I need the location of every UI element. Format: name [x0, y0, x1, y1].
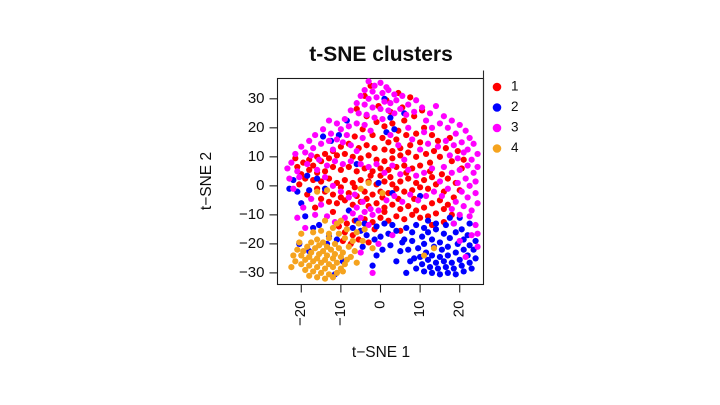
scatter-point [421, 252, 427, 258]
scatter-point [433, 226, 439, 232]
scatter-point [360, 135, 366, 141]
scatter-point [439, 247, 445, 253]
scatter-point [330, 164, 336, 170]
scatter-point [457, 238, 463, 244]
scatter-point [389, 120, 395, 126]
scatter-point [334, 200, 340, 206]
scatter-point [407, 191, 413, 197]
scatter-point [461, 157, 467, 163]
scatter-point [443, 222, 449, 228]
scatter-point [413, 222, 419, 228]
scatter-point [366, 180, 372, 186]
scatter-point [373, 94, 379, 100]
scatter-point [312, 212, 318, 218]
scatter-point [437, 178, 443, 184]
scatter-point [421, 241, 427, 247]
scatter-point [405, 167, 411, 173]
scatter-point [425, 141, 431, 147]
scatter-point [451, 265, 457, 271]
scatter-point [419, 234, 425, 240]
scatter-point [362, 102, 368, 108]
legend-label-2: 2 [511, 99, 519, 114]
y-tick-label: 30 [248, 90, 265, 107]
scatter-point [346, 194, 352, 200]
scatter-point [354, 205, 360, 211]
scatter-point [330, 146, 336, 152]
scatter-point [472, 222, 478, 228]
scatter-point [397, 178, 403, 184]
scatter-point [457, 257, 463, 263]
scatter-point [431, 189, 437, 195]
scatter-point [312, 205, 318, 211]
scatter-point [358, 215, 364, 221]
scatter-point [362, 209, 368, 215]
scatter-point [318, 196, 324, 202]
scatter-point [435, 144, 441, 150]
scatter-point [366, 164, 372, 170]
scatter-point [433, 103, 439, 109]
scatter-point [306, 167, 312, 173]
scatter-point [403, 112, 409, 118]
scatter-point [425, 186, 431, 192]
scatter-point [413, 97, 419, 103]
y-tick-label: −20 [239, 235, 264, 252]
scatter-point [441, 258, 447, 264]
scatter-point [358, 249, 364, 255]
scatter-point [302, 149, 308, 155]
scatter-point [467, 135, 473, 141]
scatter-point [453, 199, 459, 205]
scatter-point [346, 244, 352, 250]
scatter-point [352, 133, 358, 139]
scatter-point [373, 161, 379, 167]
scatter-point [397, 106, 403, 112]
scatter-point [377, 80, 383, 86]
x-axis-label: t−SNE 1 [352, 344, 410, 361]
legend-swatch-1 [493, 83, 502, 92]
scatter-point [330, 209, 336, 215]
scatter-point [429, 165, 435, 171]
scatter-point [389, 155, 395, 161]
scatter-point [417, 139, 423, 145]
scatter-point [469, 157, 475, 163]
scatter-point [344, 220, 350, 226]
scatter-point [358, 93, 364, 99]
scatter-point [429, 125, 435, 131]
scatter-point [360, 238, 366, 244]
legend-swatch-4 [493, 144, 502, 153]
scatter-point [326, 117, 332, 123]
scatter-point [431, 245, 437, 251]
scatter-point [455, 155, 461, 161]
scatter-point [360, 244, 366, 250]
scatter-point [437, 154, 443, 160]
scatter-point [330, 191, 336, 197]
scatter-point [312, 132, 318, 138]
scatter-point [433, 260, 439, 266]
scatter-point [469, 207, 475, 213]
scatter-point [419, 104, 425, 110]
scatter-point [322, 276, 328, 282]
scatter-point [421, 205, 427, 211]
scatter-point [381, 123, 387, 129]
scatter-point [322, 218, 328, 224]
scatter-point [377, 106, 383, 112]
scatter-point [417, 162, 423, 168]
scatter-point [385, 87, 391, 93]
scatter-point [366, 152, 372, 158]
scatter-point [457, 167, 463, 173]
scatter-point [385, 107, 391, 113]
scatter-point [294, 168, 300, 174]
scatter-point [409, 238, 415, 244]
scatter-point [381, 99, 387, 105]
scatter-point [441, 113, 447, 119]
scatter-point [457, 212, 463, 218]
scatter-point [300, 205, 306, 211]
scatter-point [366, 96, 372, 102]
scatter-point [318, 202, 324, 208]
scatter-point [391, 110, 397, 116]
scatter-point [330, 264, 336, 270]
scatter-point [463, 176, 469, 182]
scatter-point [409, 229, 415, 235]
scatter-point [449, 206, 455, 212]
scatter-point [415, 197, 421, 203]
scatter-point [441, 164, 447, 170]
scatter-point [338, 126, 344, 132]
x-tick-label: −10 [332, 301, 349, 326]
scatter-point [369, 212, 375, 218]
scatter-point [318, 141, 324, 147]
scatter-point [391, 91, 397, 97]
scatter-point [427, 264, 433, 270]
plot-canvas: t-SNE clusters −20−1001020 −30−20−100102… [0, 0, 720, 405]
scatter-point [451, 142, 457, 148]
scatter-point [368, 173, 374, 179]
scatter-point [302, 213, 308, 219]
scatter-point [381, 170, 387, 176]
scatter-point [445, 176, 451, 182]
scatter-point [429, 200, 435, 206]
scatter-point [356, 220, 362, 226]
scatter-point [354, 229, 360, 235]
scatter-point [429, 270, 435, 276]
scatter-point [413, 154, 419, 160]
scatter-point [405, 125, 411, 131]
scatter-point [375, 207, 381, 213]
scatter-point [405, 247, 411, 253]
scatter-point [292, 258, 298, 264]
scatter-point [449, 260, 455, 266]
scatter-point [320, 133, 326, 139]
scatter-point [421, 268, 427, 274]
y-tick-label: 20 [248, 119, 265, 136]
scatter-point [294, 215, 300, 221]
scatter-point [413, 265, 419, 271]
scatter-point [393, 213, 399, 219]
scatter-point [292, 151, 298, 157]
scatter-point [373, 200, 379, 206]
scatter-point [441, 206, 447, 212]
scatter-point [461, 247, 467, 253]
scatter-point [330, 183, 336, 189]
scatter-point [288, 160, 294, 166]
scatter-point [389, 148, 395, 154]
scatter-point [326, 155, 332, 161]
scatter-point [407, 94, 413, 100]
scatter-point [393, 136, 399, 142]
scatter-point [474, 151, 480, 157]
scatter-point [474, 231, 480, 237]
scatter-point [389, 202, 395, 208]
scatter-point [443, 264, 449, 270]
scatter-point [441, 231, 447, 237]
scatter-point [310, 229, 316, 235]
scatter-point [314, 189, 320, 195]
scatter-point [377, 215, 383, 221]
scatter-point [429, 174, 435, 180]
scatter-point [368, 206, 374, 212]
scatter-point [472, 190, 478, 196]
scatter-point [348, 254, 354, 260]
scatter-point [471, 141, 477, 147]
scatter-point [346, 164, 352, 170]
scatter-point [369, 263, 375, 269]
scatter-point [423, 193, 429, 199]
scatter-point [387, 100, 393, 106]
scatter-point [417, 146, 423, 152]
scatter-point [401, 189, 407, 195]
scatter-point [342, 177, 348, 183]
scatter-point [397, 171, 403, 177]
scatter-point [437, 271, 443, 277]
scatter-point [417, 184, 423, 190]
scatter-point [387, 132, 393, 138]
scatter-point [340, 161, 346, 167]
scatter-point [453, 229, 459, 235]
scatter-point [381, 178, 387, 184]
scatter-point [407, 258, 413, 264]
scatter-point [457, 122, 463, 128]
chart-title-group: t-SNE clusters [309, 43, 453, 66]
scatter-point [364, 142, 370, 148]
scatter-point [324, 162, 330, 168]
scatter-point [409, 212, 415, 218]
scatter-point [467, 220, 473, 226]
scatter-point [423, 151, 429, 157]
scatter-point [358, 177, 364, 183]
scatter-point [447, 152, 453, 158]
scatter-point [474, 200, 480, 206]
scatter-point [401, 117, 407, 123]
scatter-point [296, 239, 302, 245]
scatter-point [348, 142, 354, 148]
scatter-point [439, 171, 445, 177]
scatter-point [371, 115, 377, 121]
scatter-point [472, 238, 478, 244]
scatter-point [445, 244, 451, 250]
scatter-point [296, 174, 302, 180]
scatter-point [302, 267, 308, 273]
scatter-point [447, 215, 453, 221]
scatter-point [362, 122, 368, 128]
scatter-point [369, 270, 375, 276]
scatter-point [330, 274, 336, 280]
scatter-point [474, 164, 480, 170]
scatter-point [459, 139, 465, 145]
scatter-point [350, 210, 356, 216]
scatter-point [439, 193, 445, 199]
scatter-point [395, 142, 401, 148]
scatter-point [461, 268, 467, 274]
scatter-point [375, 241, 381, 247]
scatter-point [421, 170, 427, 176]
scatter-point [290, 252, 296, 258]
scatter-point [421, 177, 427, 183]
y-tick-label: 0 [256, 177, 264, 194]
scatter-point [403, 270, 409, 276]
scatter-point [437, 239, 443, 245]
scatter-point [364, 112, 370, 118]
scatter-point [437, 120, 443, 126]
scatter-point [342, 151, 348, 157]
scatter-point [369, 191, 375, 197]
scatter-point [415, 245, 421, 251]
scatter-point [391, 126, 397, 132]
scatter-point [302, 225, 308, 231]
scatter-point [381, 209, 387, 215]
scatter-point [389, 162, 395, 168]
scatter-point [417, 215, 423, 221]
scatter-point [306, 273, 312, 279]
scatter-point [411, 109, 417, 115]
tsne-scatter-figure: t-SNE clusters −20−1001020 −30−20−100102… [0, 0, 720, 405]
scatter-point [348, 107, 354, 113]
scatter-point [433, 210, 439, 216]
scatter-point [368, 128, 374, 134]
scatter-point [314, 236, 320, 242]
scatter-point [401, 216, 407, 222]
scatter-point [316, 222, 322, 228]
x-tick-label: 0 [371, 301, 388, 309]
scatter-point [461, 203, 467, 209]
scatter-point [472, 255, 478, 261]
scatter-point [399, 199, 405, 205]
x-tick-label: −20 [292, 301, 309, 326]
scatter-point [360, 199, 366, 205]
scatter-point [469, 232, 475, 238]
scatter-point [381, 220, 387, 226]
scatter-point [393, 258, 399, 264]
scatter-point [354, 120, 360, 126]
legend-swatch-2 [493, 103, 502, 112]
scatter-point [445, 270, 451, 276]
scatter-point [334, 152, 340, 158]
scatter-point [326, 199, 332, 205]
scatter-point [352, 184, 358, 190]
scatter-point [286, 176, 292, 182]
scatter-point [296, 181, 302, 187]
scatter-point [322, 168, 328, 174]
scatter-point [409, 136, 415, 142]
scatter-point [401, 157, 407, 163]
scatter-point [324, 187, 330, 193]
scatter-point [352, 191, 358, 197]
scatter-point [328, 131, 334, 137]
scatter-point [350, 238, 356, 244]
scatter-point [427, 160, 433, 166]
scatter-point [387, 174, 393, 180]
scatter-point [356, 110, 362, 116]
scatter-point [451, 220, 457, 226]
scatter-point [459, 226, 465, 232]
scatter-point [421, 225, 427, 231]
legend-label-4: 4 [511, 140, 519, 155]
x-tick-label: 10 [411, 301, 428, 318]
scatter-point [435, 138, 441, 144]
scatter-point [366, 239, 372, 245]
scatter-point [338, 167, 344, 173]
scatter-point [419, 261, 425, 267]
scatter-point [385, 139, 391, 145]
scatter-point [298, 261, 304, 267]
scatter-point [423, 117, 429, 123]
scatter-point [443, 145, 449, 151]
scatter-point [373, 223, 379, 229]
scatter-point [352, 248, 358, 254]
scatter-point [389, 232, 395, 238]
scatter-point [381, 158, 387, 164]
scatter-point [447, 235, 453, 241]
legend-label-3: 3 [511, 120, 519, 135]
scatter-point [375, 180, 381, 186]
scatter-point [421, 129, 427, 135]
scatter-point [332, 158, 338, 164]
scatter-point [467, 183, 473, 189]
scatter-point [379, 116, 385, 122]
scatter-point [405, 203, 411, 209]
scatter-point [405, 176, 411, 182]
scatter-point [407, 142, 413, 148]
scatter-point [371, 145, 377, 151]
scatter-point [474, 244, 480, 250]
scatter-point [405, 149, 411, 155]
scatter-point [381, 146, 387, 152]
scatter-point [304, 161, 310, 167]
y-tick-label: 10 [248, 148, 265, 165]
scatter-point [463, 128, 469, 134]
scatter-point [379, 247, 385, 253]
scatter-point [314, 167, 320, 173]
scatter-point [364, 232, 370, 238]
scatter-point [433, 220, 439, 226]
scatter-point [413, 131, 419, 137]
scatter-point [362, 226, 368, 232]
scatter-point [403, 225, 409, 231]
scatter-point [366, 78, 372, 84]
scatter-point [342, 116, 348, 122]
scatter-point [304, 173, 310, 179]
scatter-point [373, 252, 379, 258]
scatter-point [318, 228, 324, 234]
scatter-point [397, 248, 403, 254]
scatter-point [413, 173, 419, 179]
scatter-point [358, 155, 364, 161]
scatter-point [338, 189, 344, 195]
scatter-point [308, 196, 314, 202]
scatter-point [445, 125, 451, 131]
